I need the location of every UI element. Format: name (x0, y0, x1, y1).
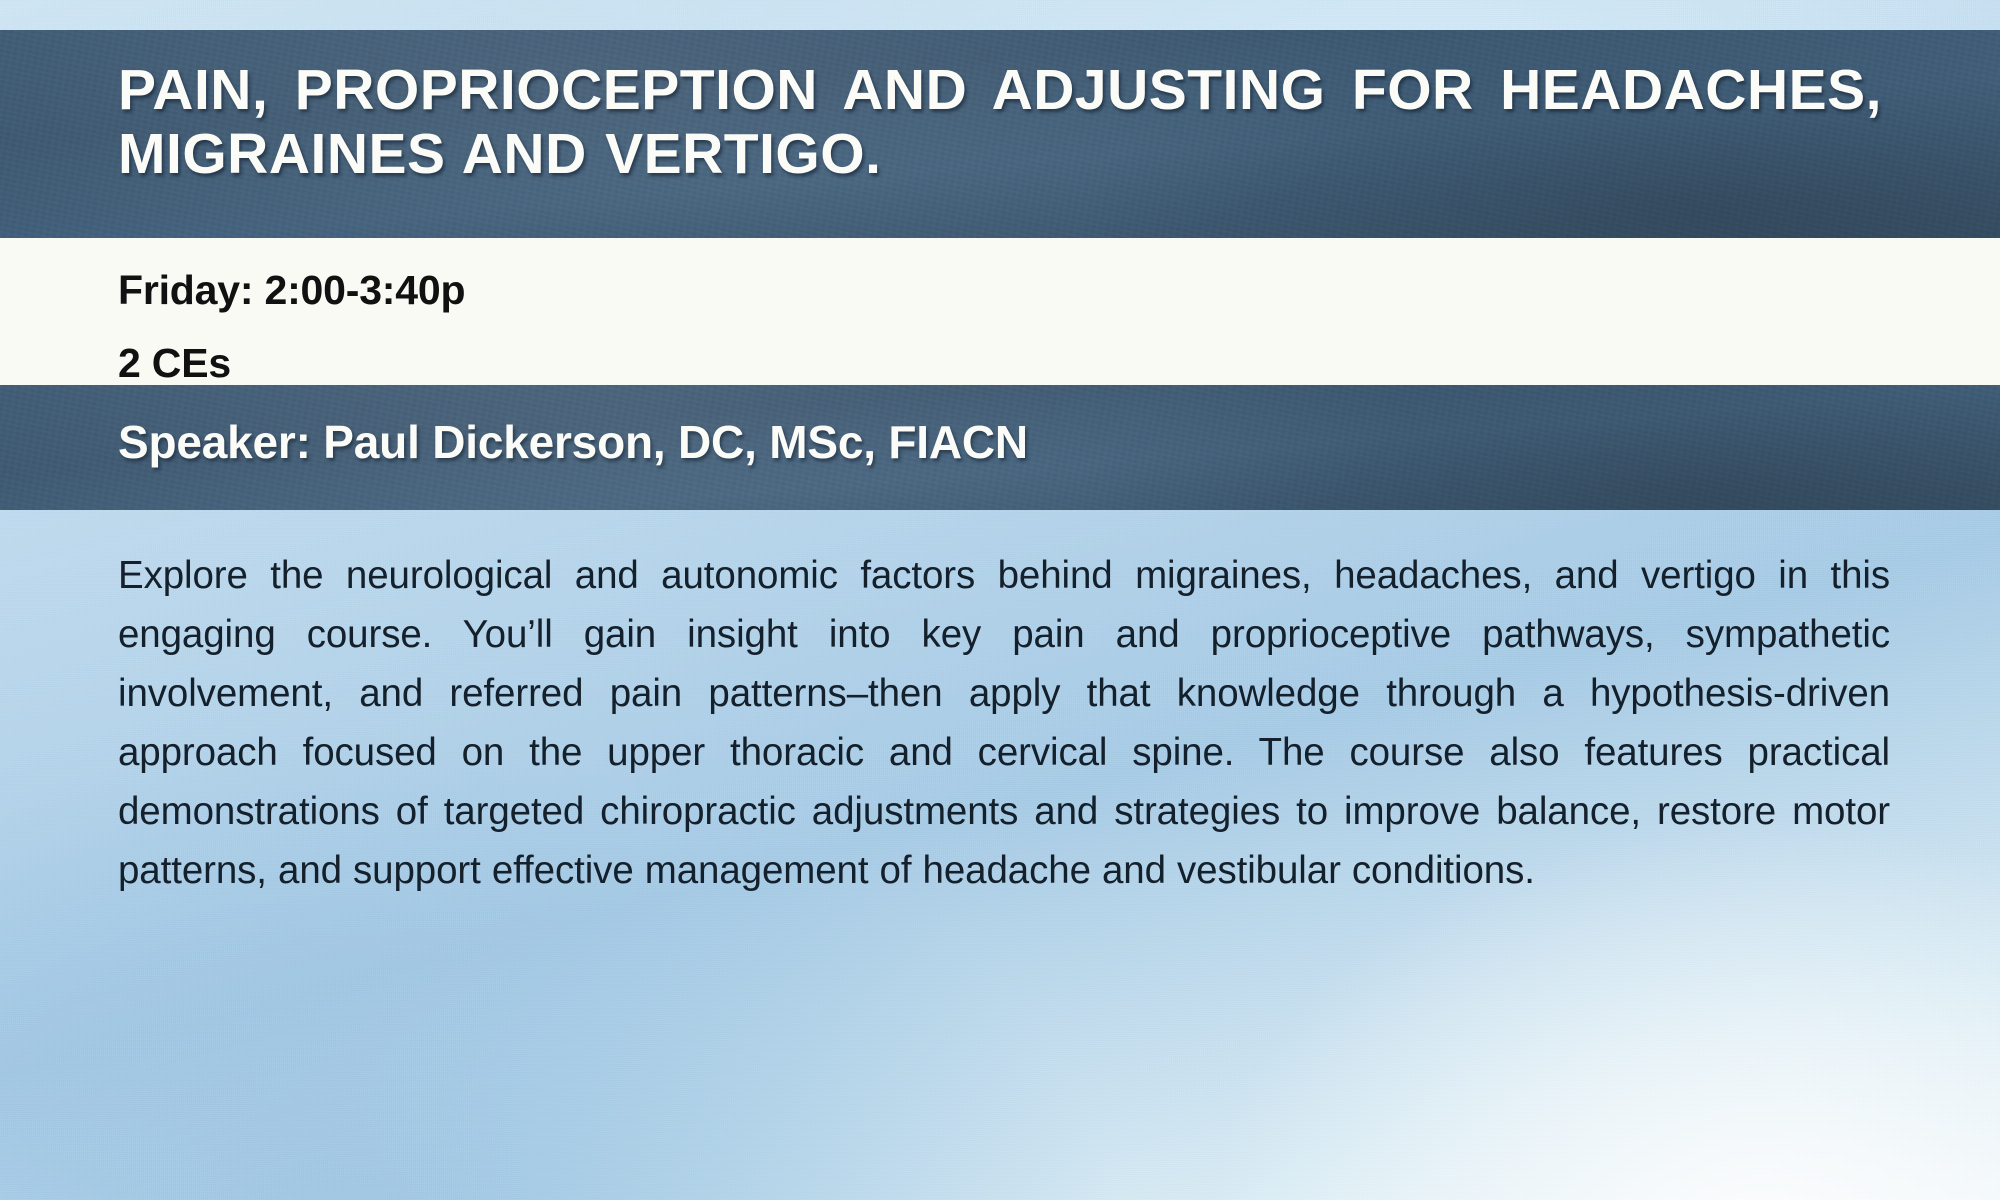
description-area: Explore the neurological and autonomic f… (0, 510, 2000, 1200)
speaker-name: Speaker: Paul Dickerson, DC, MSc, FIACN (0, 385, 2000, 468)
course-description: Explore the neurological and autonomic f… (118, 546, 1890, 900)
ce-credits: 2 CEs (0, 311, 2000, 384)
session-time: Friday: 2:00-3:40p (0, 238, 2000, 311)
title-band: PAIN, PROPRIOCEPTION AND ADJUSTING FOR H… (0, 30, 2000, 238)
schedule-band: Friday: 2:00-3:40p 2 CEs (0, 238, 2000, 385)
course-session-slide: PAIN, PROPRIOCEPTION AND ADJUSTING FOR H… (0, 0, 2000, 1200)
page-title: PAIN, PROPRIOCEPTION AND ADJUSTING FOR H… (0, 30, 2000, 187)
speaker-band: Speaker: Paul Dickerson, DC, MSc, FIACN (0, 385, 2000, 510)
